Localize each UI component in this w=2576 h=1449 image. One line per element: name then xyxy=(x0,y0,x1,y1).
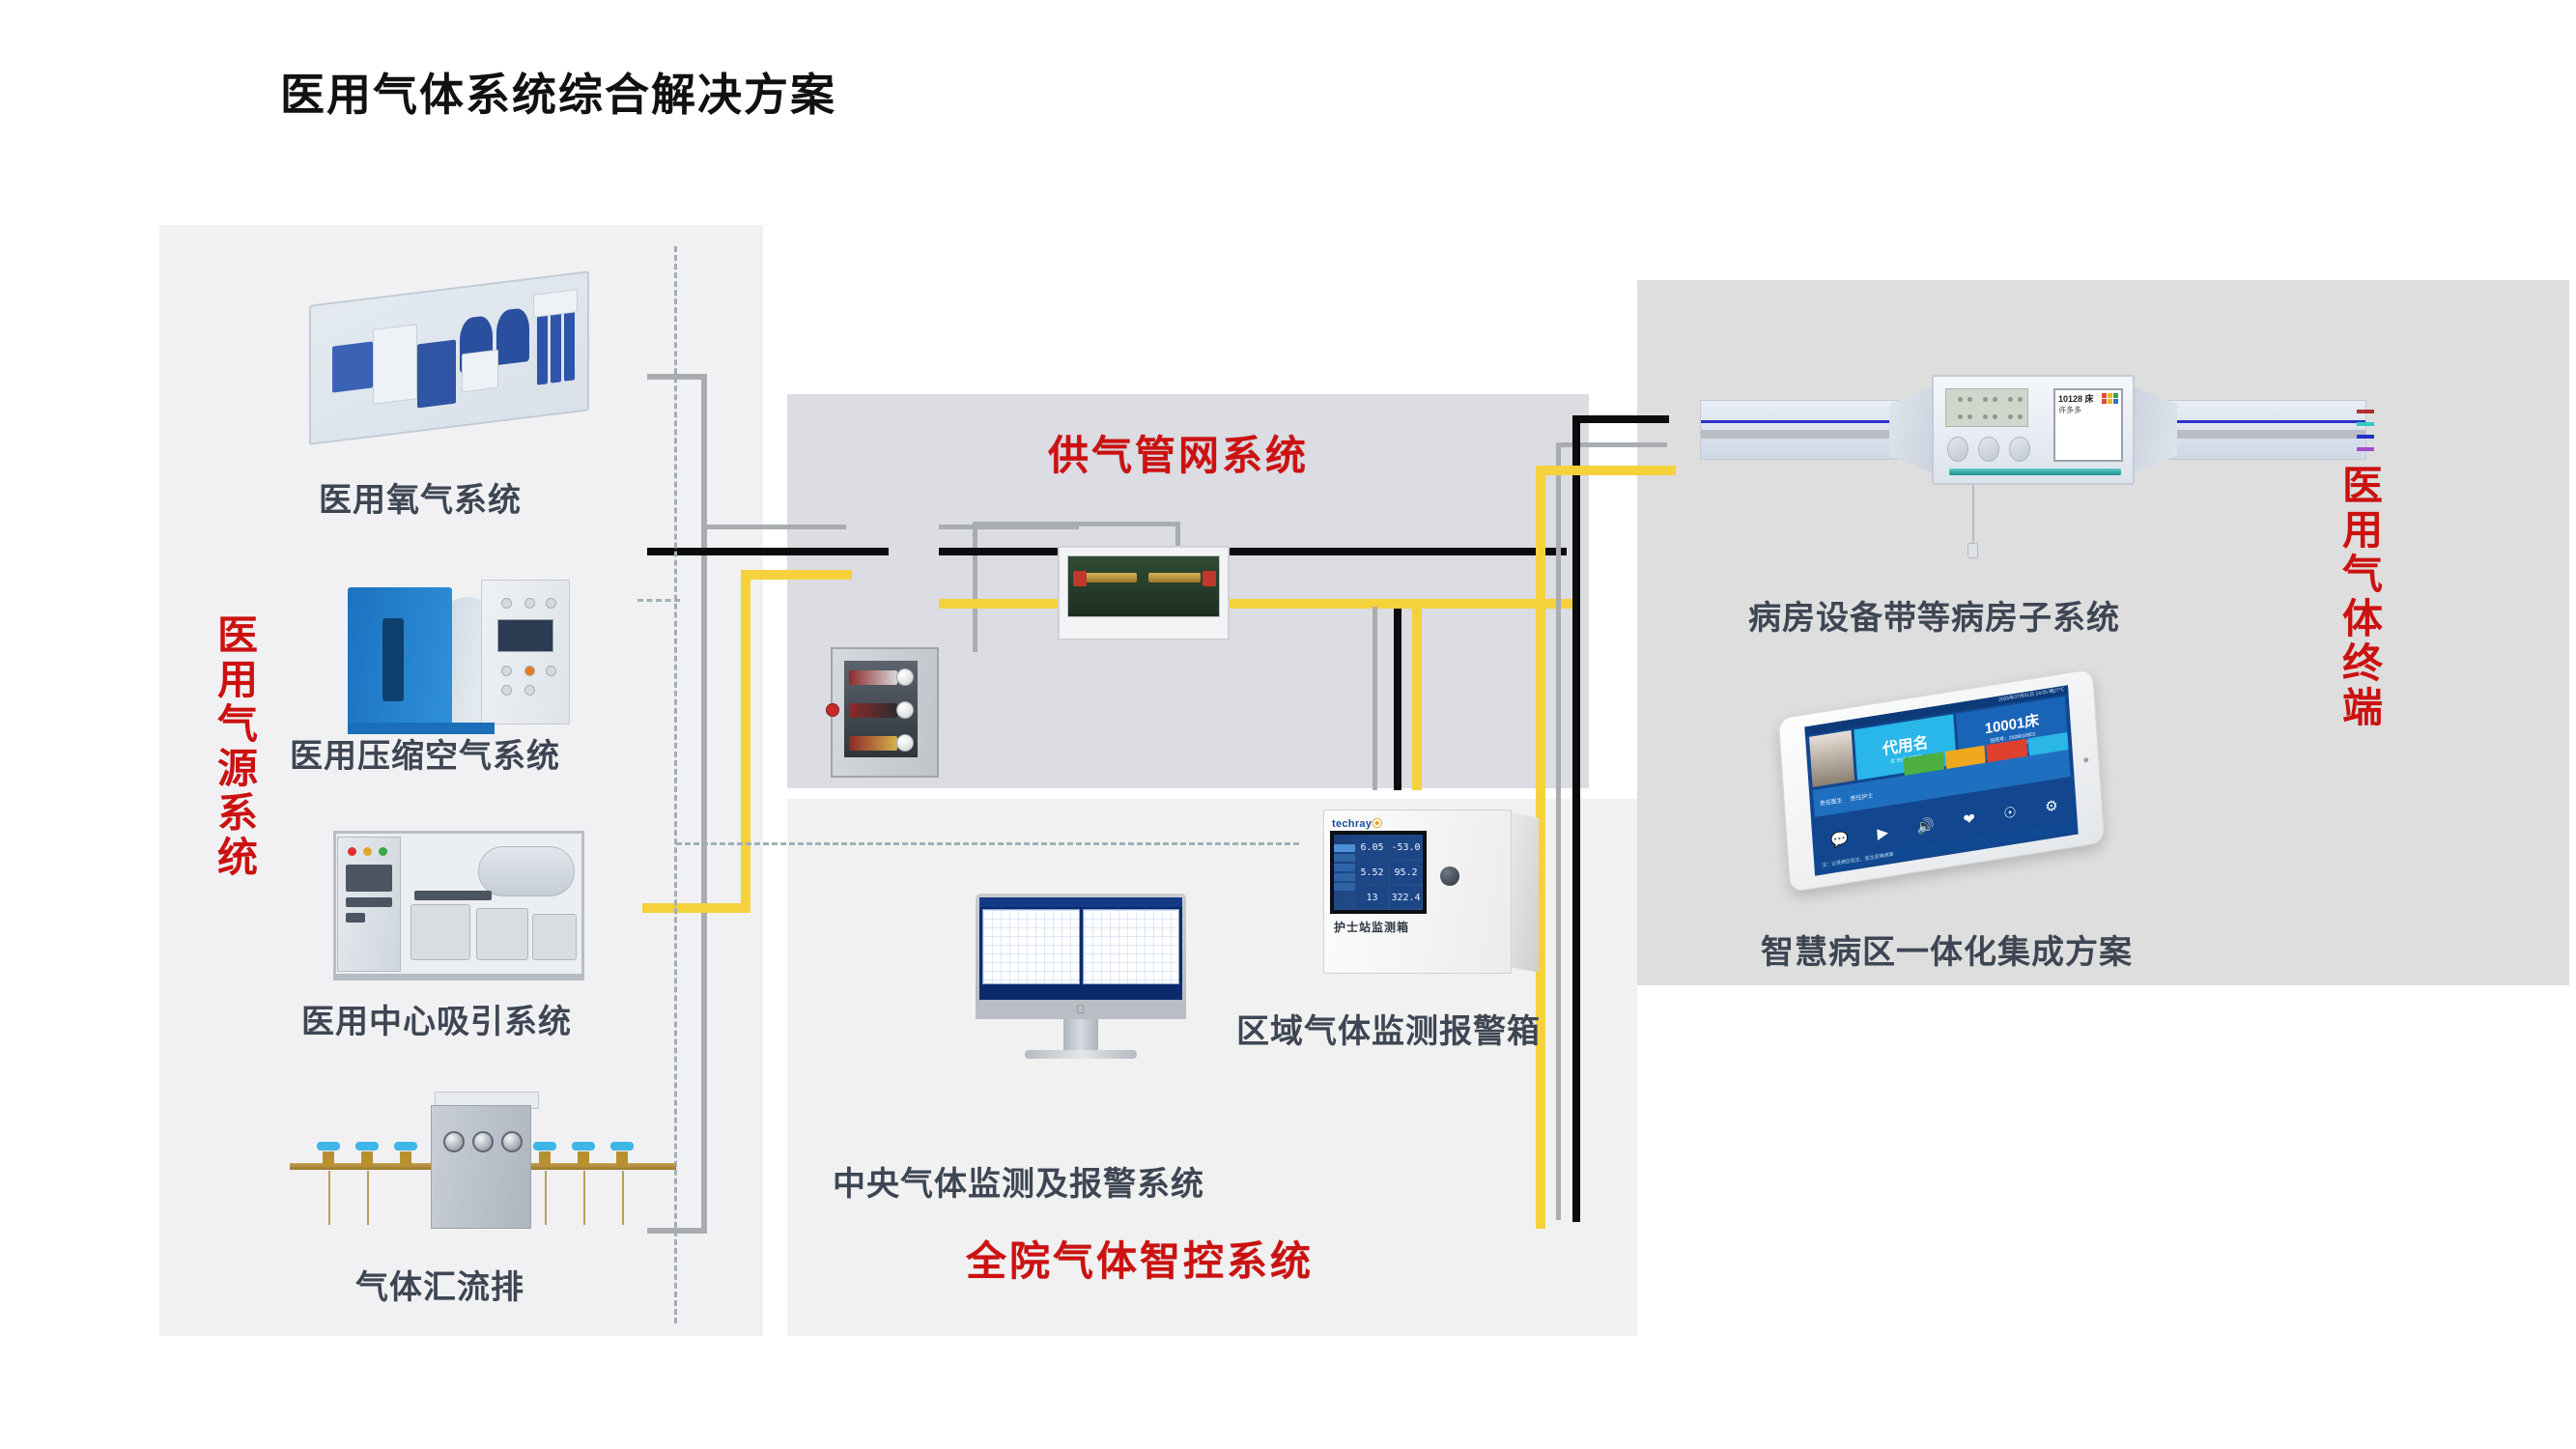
heading-gas-control: 全院气体智控系统 xyxy=(966,1229,1314,1288)
reading-cell: -53.0 xyxy=(1390,836,1422,859)
play-icon: ▶ xyxy=(1877,823,1889,842)
reading-cell: 13 xyxy=(1356,886,1388,909)
gas-manifold-illustration xyxy=(290,1092,676,1246)
signal-dashed-horizontal-left xyxy=(637,599,680,602)
call-icon: ☉ xyxy=(2003,803,2018,822)
pipe-oxygen-center-valve-feed xyxy=(973,522,1180,526)
speaker-icon: 🔊 xyxy=(1916,816,1936,837)
pipe-vacuum-drop-control xyxy=(1394,609,1401,790)
central-suction-illustration xyxy=(333,831,584,980)
pipe-air-elbow-terminal xyxy=(1536,466,1676,475)
zone-valve-box xyxy=(831,647,939,778)
reading-cell: 322.4 xyxy=(1390,886,1422,909)
pipe-air-drop-control xyxy=(1412,607,1422,790)
page-title: 医用气体系统综合解决方案 xyxy=(280,60,836,124)
doctor-label: 责任医生 xyxy=(1819,795,1842,808)
pipe-oxygen-riser-vertical xyxy=(701,374,707,1234)
heading-pipe-network: 供气管网系统 xyxy=(1048,423,1309,482)
heading-gas-terminal: 医用气体终端 xyxy=(2335,464,2384,730)
lock-icon xyxy=(1440,867,1459,886)
heart-icon: ❤ xyxy=(1963,810,1976,829)
patient-name: 许多多 xyxy=(2055,405,2121,415)
pipe-oxygen-riser-terminal xyxy=(1556,442,1561,1220)
pipe-air-source-vertical xyxy=(741,570,750,910)
label-central-gas-monitor: 中央气体监测及报警系统 xyxy=(833,1157,1204,1205)
alarm-box-screen: 6.05 -53.0 5.52 95.2 13 322.4 xyxy=(1330,831,1427,914)
diagram-canvas: 医用气体系统综合解决方案 医 xyxy=(0,0,2576,1449)
message-icon: 💬 xyxy=(1830,830,1850,850)
compressed-air-illustration xyxy=(348,580,570,724)
pipe-air-main-center xyxy=(939,599,1576,609)
central-monitoring-workstation:  xyxy=(976,894,1186,1072)
signal-dashed-horizontal-control xyxy=(676,842,1299,845)
pipe-connection-tips xyxy=(2357,410,2374,460)
zone-gas-alarm-box-illustration: techray⦿ 6.05 -53.0 5.52 95.2 13 322.4 护… xyxy=(1323,810,1512,974)
reading-cell: 5.52 xyxy=(1356,861,1388,884)
pipe-oxygen-branch-horizontal xyxy=(703,525,846,529)
pipe-vacuum-elbow-terminal xyxy=(1572,415,1669,423)
pipe-oxygen-center-up xyxy=(973,526,977,652)
pipe-vacuum-main-left xyxy=(647,548,889,555)
reading-cell: 6.05 xyxy=(1356,836,1388,859)
nurse-label: 责任护士 xyxy=(1850,790,1873,803)
pipe-vacuum-riser-terminal xyxy=(1572,415,1580,1222)
alarm-box-caption: 护士站监测箱 xyxy=(1334,919,1409,935)
bed-head-unit-illustration: 10128 床 许多多 xyxy=(1700,367,2366,493)
call-button xyxy=(1967,543,1978,558)
label-bed-head-unit: 病房设备带等病房子系统 xyxy=(1748,591,2120,639)
label-zone-gas-alarm-box: 区域气体监测报警箱 xyxy=(1236,1005,1541,1052)
label-gas-manifold: 气体汇流排 xyxy=(355,1261,524,1308)
brand-text: techray xyxy=(1332,818,1372,830)
bed-head-display: 10128 床 许多多 xyxy=(2053,388,2123,462)
alarm-nav xyxy=(1334,835,1355,910)
label-central-suction: 医用中心吸引系统 xyxy=(301,995,572,1042)
heading-gas-source: 医用气源系统 xyxy=(211,613,259,880)
camera-icon xyxy=(2083,757,2088,763)
label-smart-ward-integration: 智慧病区一体化集成方案 xyxy=(1761,925,2133,973)
pipe-oxygen-drop-control xyxy=(1373,607,1377,790)
reading-cell: 95.2 xyxy=(1390,861,1422,884)
pipe-air-to-valvebox xyxy=(741,570,852,580)
label-medical-oxygen-system: 医用氧气系统 xyxy=(319,473,522,521)
techray-logo: techray⦿ xyxy=(1332,815,1383,831)
label-medical-compressed-air: 医用压缩空气系统 xyxy=(290,729,560,777)
oxygen-plant-illustration xyxy=(309,288,589,428)
status-swatches xyxy=(2102,393,2118,404)
gear-icon: ⚙ xyxy=(2045,796,2059,815)
patient-avatar xyxy=(1809,730,1854,787)
pipe-air-source-horizontal xyxy=(642,903,750,913)
pipe-network-valve-panel xyxy=(1058,546,1230,640)
pipe-oxygen-riser-top xyxy=(647,374,707,380)
apple-logo-icon:  xyxy=(1077,1003,1086,1016)
pipe-vacuum-main-center xyxy=(939,548,1567,555)
